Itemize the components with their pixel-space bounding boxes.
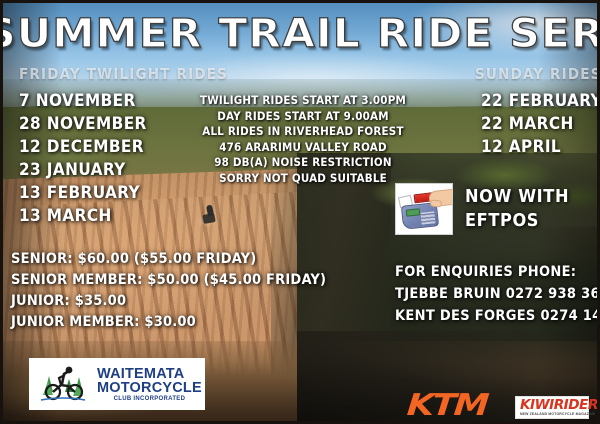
contact-phone: TJEBBE BRUIN 0272 938 360 [395,283,600,305]
ride-info-block: TWILIGHT RIDES START AT 3.00PM DAY RIDES… [188,93,418,186]
eftpos-line-2: EFTPOS [465,209,569,233]
club-name-line-2: MOTORCYCLE [97,381,202,395]
eftpos-line-1: NOW WITH [465,185,569,209]
eftpos-block: NOW WITH EFTPOS [395,183,569,235]
friday-rides-heading: FRIDAY TWILIGHT RIDES [19,65,228,83]
info-line: 98 DB(A) NOISE RESTRICTION [188,155,418,171]
club-logo: WAITEMATA MOTORCYCLE CLUB INCORPORATED [29,358,205,410]
info-line: TWILIGHT RIDES START AT 3.00PM [188,93,418,109]
terminal-screen-shape [406,208,421,216]
info-line: 476 ARARIMU VALLEY ROAD [188,140,418,156]
sunday-date: 22 FEBRUARY [481,90,600,113]
sunday-date: 22 MARCH [481,113,600,136]
dirt-bike-rider-with-trees-icon [35,362,91,406]
enquiries-heading: FOR ENQUIRIES PHONE: [395,261,600,283]
enquiries-block: FOR ENQUIRIES PHONE: TJEBBE BRUIN 0272 9… [395,261,600,327]
thumb-shape [430,199,443,207]
club-emblem-svg [35,362,91,406]
club-wordmark: WAITEMATA MOTORCYCLE CLUB INCORPORATED [97,367,202,402]
sunday-rides-column: SUNDAY RIDES 22 FEBRUARY 22 MARCH 12 APR… [477,65,600,159]
contact-phone: KENT DES FORGES 0274 146 122 [395,305,600,327]
kiwirider-logo: KIWIRIDER NEW ZEALAND MOTORCYCLE MAGAZIN… [515,396,589,419]
trail-ride-poster: SUMMER TRAIL RIDE SERIES FRIDAY TWILIGHT… [0,0,600,424]
club-name-line-1: WAITEMATA [97,367,202,381]
ktm-logo: KTM [406,391,488,421]
price-line: SENIOR: $60.00 ($55.00 FRIDAY) [11,249,326,270]
info-line: SORRY NOT QUAD SUITABLE [188,171,418,187]
price-list: SENIOR: $60.00 ($55.00 FRIDAY) SENIOR ME… [11,249,326,333]
friday-date: 13 MARCH [19,205,228,228]
club-name-line-3: CLUB INCORPORATED [97,396,202,402]
poster-content: SUMMER TRAIL RIDE SERIES FRIDAY TWILIGHT… [3,3,597,421]
info-line: DAY RIDES START AT 9.00AM [188,109,418,125]
page-title: SUMMER TRAIL RIDE SERIES [0,11,600,57]
price-line: SENIOR MEMBER: $50.00 ($45.00 FRIDAY) [11,270,326,291]
info-line: ALL RIDES IN RIVERHEAD FOREST [188,124,418,140]
sunday-rides-heading: SUNDAY RIDES [475,65,600,83]
kiwirider-wordmark: KIWIRIDER [520,399,587,412]
sunday-date: 12 APRIL [481,136,600,159]
price-line: JUNIOR MEMBER: $30.00 [11,312,326,333]
eftpos-terminal-icon [395,183,453,235]
price-line: JUNIOR: $35.00 [11,291,326,312]
eftpos-text: NOW WITH EFTPOS [465,185,569,233]
terminal-keypad-shape [420,211,435,224]
